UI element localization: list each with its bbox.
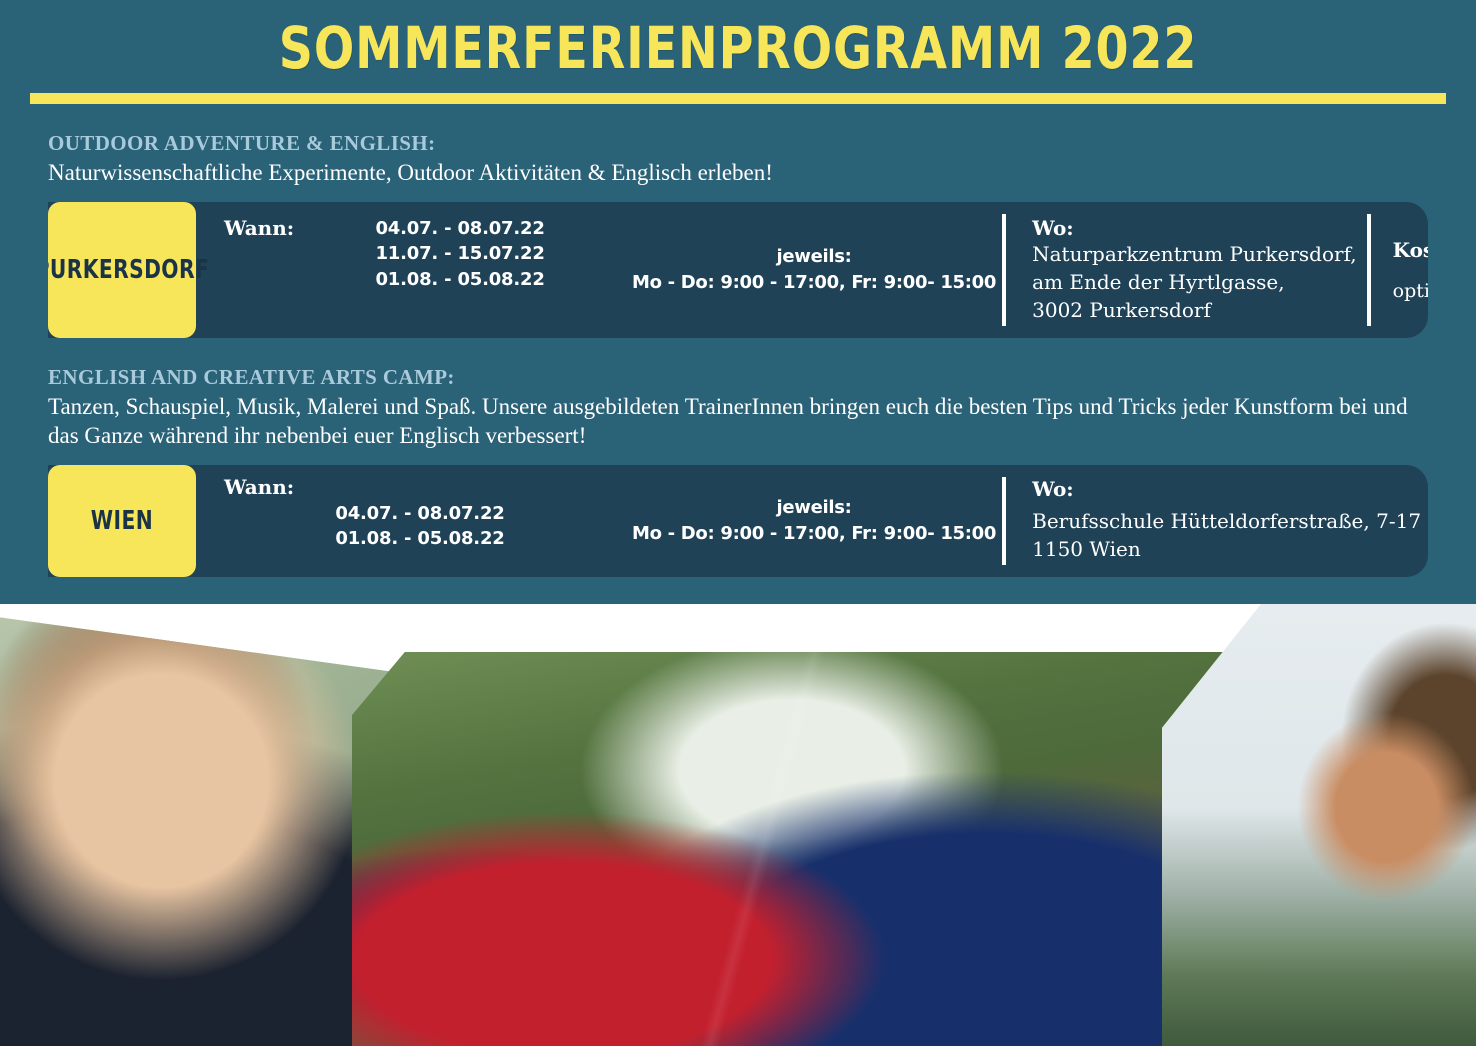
when-label: Wann: bbox=[224, 475, 606, 499]
where-cell: Wo: Naturparkzentrum Purkersdorf, am End… bbox=[1002, 202, 1367, 338]
times-value: Mo - Do: 9:00 - 17:00, Fr: 9:00- 15:00 bbox=[632, 521, 996, 547]
section-description: Tanzen, Schauspiel, Musik, Malerei und S… bbox=[48, 392, 1428, 451]
when-dates: 04.07. - 08.07.22 11.07. - 15.07.22 01.0… bbox=[304, 216, 616, 324]
address-line: am Ende der Hyrtlgasse, bbox=[1032, 268, 1357, 296]
where-address: Berufsschule Hütteldorferstraße, 7-17 11… bbox=[1032, 507, 1421, 563]
when-cell: Wann: 04.07. - 08.07.22 01.08. - 05.08.2… bbox=[196, 465, 626, 577]
photo-group-with-flags bbox=[352, 652, 1232, 1046]
photo-group-with-flags-image bbox=[352, 652, 1232, 1046]
page-header: SOMMERFERIENPROGRAMM 2022 bbox=[0, 0, 1476, 104]
when-label: Wann: bbox=[224, 216, 294, 324]
location-badge-label: WIEN bbox=[91, 506, 153, 536]
location-badge-label: PURKERSDORF bbox=[48, 255, 209, 285]
section-heading: OUTDOOR ADVENTURE & ENGLISH: bbox=[48, 130, 1428, 156]
section-creative-arts-camp: ENGLISH AND CREATIVE ARTS CAMP: Tanzen, … bbox=[48, 364, 1428, 577]
times-inner: jeweils: Mo - Do: 9:00 - 17:00, Fr: 9:00… bbox=[632, 495, 996, 546]
address-line: Naturparkzentrum Purkersdorf, bbox=[1032, 240, 1357, 268]
where-inner: Wo: Naturparkzentrum Purkersdorf, am End… bbox=[1032, 216, 1357, 324]
date-line: 04.07. - 08.07.22 bbox=[304, 216, 616, 242]
date-line: 01.08. - 05.08.22 bbox=[224, 526, 616, 552]
times-inner: jeweils: Mo - Do: 9:00 - 17:00, Fr: 9:00… bbox=[632, 244, 996, 295]
photo-experiment-parachute bbox=[1162, 604, 1476, 1046]
times-label: jeweils: bbox=[632, 244, 996, 270]
main-content: OUTDOOR ADVENTURE & ENGLISH: Naturwissen… bbox=[0, 130, 1476, 661]
section-heading: ENGLISH AND CREATIVE ARTS CAMP: bbox=[48, 364, 1428, 390]
times-cell: jeweils: Mo - Do: 9:00 - 17:00, Fr: 9:00… bbox=[626, 465, 1002, 577]
cost-row: Kosten: 270€ bbox=[1393, 238, 1428, 262]
info-box-wien: WIEN Wann: 04.07. - 08.07.22 01.08. - 05… bbox=[48, 465, 1428, 577]
cost-cell: Kosten: 270€ optional Mittagessen: 40€ bbox=[1367, 202, 1428, 338]
address-line: 1150 Wien bbox=[1032, 535, 1421, 563]
cost-note: optional Mittagessen: 40€ bbox=[1393, 280, 1428, 302]
where-address: Naturparkzentrum Purkersdorf, am Ende de… bbox=[1032, 240, 1357, 324]
where-label: Wo: bbox=[1032, 216, 1074, 240]
photo-experiment-parachute-image bbox=[1162, 604, 1476, 1046]
times-cell: jeweils: Mo - Do: 9:00 - 17:00, Fr: 9:00… bbox=[626, 202, 1002, 338]
address-line: 3002 Purkersdorf bbox=[1032, 296, 1357, 324]
cost-label: Kosten: bbox=[1393, 238, 1428, 262]
times-value: Mo - Do: 9:00 - 17:00, Fr: 9:00- 15:00 bbox=[632, 270, 996, 296]
where-cell: Wo: Berufsschule Hütteldorferstraße, 7-1… bbox=[1002, 465, 1428, 577]
section-description: Naturwissenschaftliche Experimente, Outd… bbox=[48, 158, 1428, 187]
location-badge-purkersdorf: PURKERSDORF bbox=[48, 202, 196, 338]
date-line: 04.07. - 08.07.22 bbox=[224, 501, 616, 527]
when-cell: Wann: 04.07. - 08.07.22 11.07. - 15.07.2… bbox=[196, 202, 626, 338]
address-line: Berufsschule Hütteldorferstraße, 7-17 bbox=[1032, 507, 1421, 535]
date-line: 11.07. - 15.07.22 bbox=[304, 241, 616, 267]
page-title: SOMMERFERIENPROGRAMM 2022 bbox=[133, 18, 1343, 79]
date-line: 01.08. - 05.08.22 bbox=[304, 267, 616, 293]
info-box-purkersdorf: PURKERSDORF Wann: 04.07. - 08.07.22 11.0… bbox=[48, 202, 1428, 338]
where-label: Wo: bbox=[1032, 477, 1407, 501]
when-dates: 04.07. - 08.07.22 01.08. - 05.08.22 bbox=[224, 501, 616, 552]
times-label: jeweils: bbox=[632, 495, 996, 521]
location-badge-wien: WIEN bbox=[48, 465, 196, 577]
photo-collage bbox=[0, 604, 1476, 1046]
section-outdoor-adventure: OUTDOOR ADVENTURE & ENGLISH: Naturwissen… bbox=[48, 130, 1428, 338]
title-underline-rule bbox=[30, 93, 1446, 104]
